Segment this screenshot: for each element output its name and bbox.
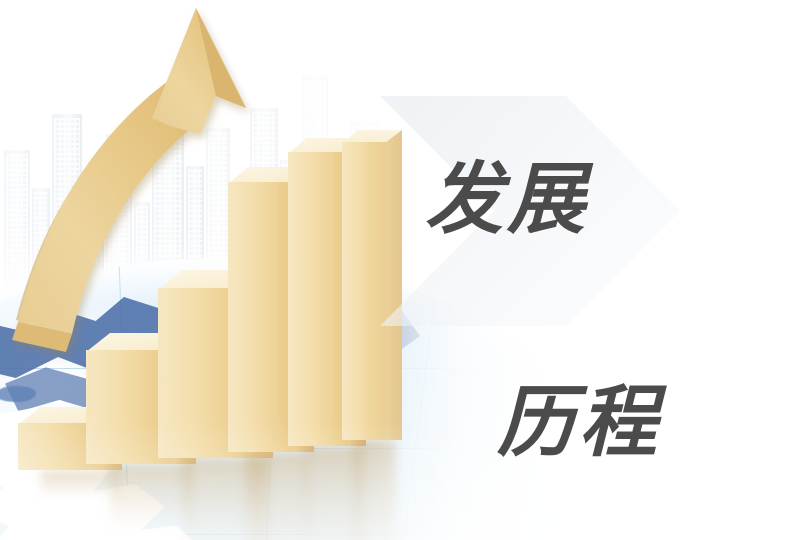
- headline-block: 发展 历程 Development History: [425, 20, 765, 540]
- development-history-banner: 发展 历程 Development History: [0, 0, 800, 540]
- upward-growth-arrow: [0, 0, 420, 420]
- bar-shadow: [305, 446, 362, 540]
- chinese-title-line-1: 发展: [425, 164, 765, 236]
- bar-shadow: [110, 464, 192, 527]
- chinese-title-line-2: 历程: [497, 387, 765, 459]
- chinese-calligraphy-title: 发展 历程: [425, 20, 765, 540]
- bar-shadow: [246, 452, 309, 540]
- bar-shadow: [41, 470, 119, 496]
- bar-shadow: [354, 440, 396, 540]
